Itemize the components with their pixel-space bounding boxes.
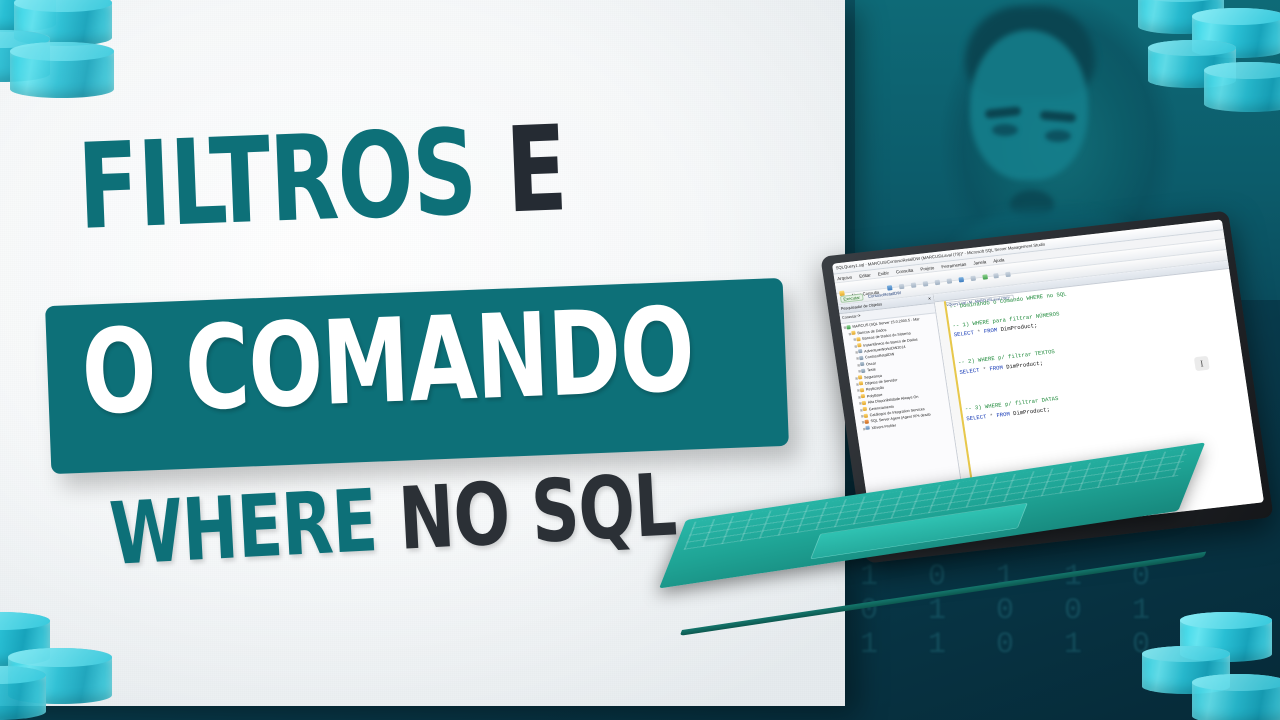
db-icon [858, 349, 863, 353]
object-explorer-node-label: Teste [867, 368, 876, 373]
undo-icon[interactable] [958, 277, 964, 283]
copy-icon[interactable] [934, 279, 940, 285]
title-line-2: O COMANDO [80, 293, 696, 432]
database-cylinder-icon [1204, 62, 1280, 112]
folder-icon [852, 331, 857, 335]
presenter-head [970, 30, 1088, 180]
object-explorer-node-label: Oscar [866, 361, 876, 366]
cut-icon[interactable] [922, 281, 928, 287]
menu-item-ferramentas[interactable]: Ferramentas [941, 261, 966, 269]
folder-icon [860, 388, 865, 392]
object-explorer-tree[interactable]: ⊞MARCUS (SQL Server 15.0.2000.5 - Mar⊞Ba… [841, 313, 952, 434]
paste-icon[interactable] [946, 278, 952, 284]
database-cylinder-cluster-top-right [1138, 0, 1280, 136]
indent-icon[interactable] [994, 273, 1000, 279]
agent-icon [865, 419, 870, 423]
server-icon [847, 325, 852, 329]
outdent-icon[interactable] [1006, 271, 1012, 277]
database-cylinder-icon [1192, 674, 1280, 720]
menu-item-exibir[interactable]: Exibir [877, 270, 889, 276]
comment-icon[interactable] [982, 274, 988, 280]
menu-item-janela[interactable]: Janela [973, 259, 987, 265]
title-where: WHERE [107, 471, 379, 585]
folder-icon [857, 343, 862, 347]
title-no-sql: NO SQL [396, 455, 678, 569]
title-line-3: WHERE NO SQL [108, 462, 678, 578]
presenter-eye-right [1045, 130, 1071, 142]
menu-item-editar[interactable]: Editar [859, 272, 871, 278]
folder-icon [862, 400, 867, 404]
folder-icon [856, 337, 861, 341]
folder-icon [863, 407, 868, 411]
profiler-icon [866, 426, 871, 430]
db-icon [860, 362, 865, 366]
menu-item-projeto[interactable]: Projeto [920, 265, 935, 272]
refresh-icon[interactable]: ⟳ [857, 314, 861, 318]
object-explorer-close-icon[interactable]: ✕ [928, 296, 932, 303]
save-all-icon[interactable] [910, 282, 916, 288]
menu-item-ajuda[interactable]: Ajuda [993, 257, 1005, 263]
redo-icon[interactable] [970, 275, 976, 281]
title-line-1: FILTROS E [76, 109, 569, 246]
db-icon [859, 356, 864, 360]
folder-icon [858, 375, 863, 379]
object-explorer-node-label: XEvent Profiler [871, 423, 896, 430]
title-group: FILTROS E O COMANDO WHERE NO SQL [0, 0, 845, 706]
title-e: E [503, 99, 568, 239]
presenter-eye-left [992, 124, 1018, 136]
menu-item-consulta[interactable]: Consulta [896, 267, 914, 274]
folder-icon [864, 413, 869, 417]
title-filtros: FILTROS [75, 103, 478, 256]
db-icon [861, 368, 866, 372]
text-cursor-icon: I [1194, 356, 1210, 371]
folder-icon [861, 394, 866, 398]
folder-icon [859, 381, 864, 385]
